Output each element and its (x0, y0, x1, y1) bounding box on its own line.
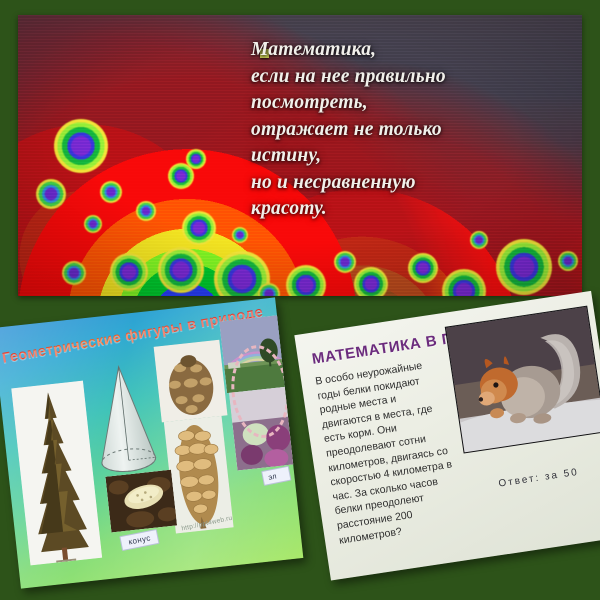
fractal-spiral (470, 231, 488, 249)
fractal-spiral (354, 267, 388, 296)
fractal-spiral (334, 251, 356, 273)
fractal-spiral (110, 253, 148, 291)
answer-text: Ответ: за 50 (498, 467, 580, 490)
fractal-spiral (62, 261, 86, 285)
fractal-spiral (136, 201, 156, 221)
geometric-figures-slide: Геометрические фигуры в природе (0, 297, 303, 588)
collage-canvas: Математика, если на нее правильно посмот… (0, 0, 600, 600)
fractal-spiral (232, 227, 248, 243)
seed-in-soil-icon (105, 470, 177, 533)
ellipse-overlay-shape (220, 336, 301, 447)
fractal-spiral (84, 215, 102, 233)
fractal-spiral (54, 119, 108, 173)
pine-cone-photo-top (154, 340, 228, 423)
fractal-spiral (408, 253, 438, 283)
math-in-nature-slide: МАТЕМАТИКА В ПРИРОДЕ В особо неурожайные… (294, 291, 600, 581)
fractal-spiral (182, 211, 216, 245)
slide-quote-text: Математика, если на нее правильно посмот… (251, 37, 581, 223)
squirrel-icon (446, 307, 600, 453)
soil-seed-photo (105, 470, 177, 533)
fractal-spiral (36, 179, 66, 209)
projector-fractal-slide: Математика, если на нее правильно посмот… (18, 15, 582, 296)
pine-cone-icon (154, 340, 228, 423)
fractal-spiral (158, 247, 204, 293)
squirrel-photo (445, 306, 600, 454)
fractal-spiral (496, 239, 552, 295)
fractal-spiral (558, 251, 578, 271)
fractal-spiral (100, 181, 122, 203)
fractal-spiral (186, 149, 206, 169)
